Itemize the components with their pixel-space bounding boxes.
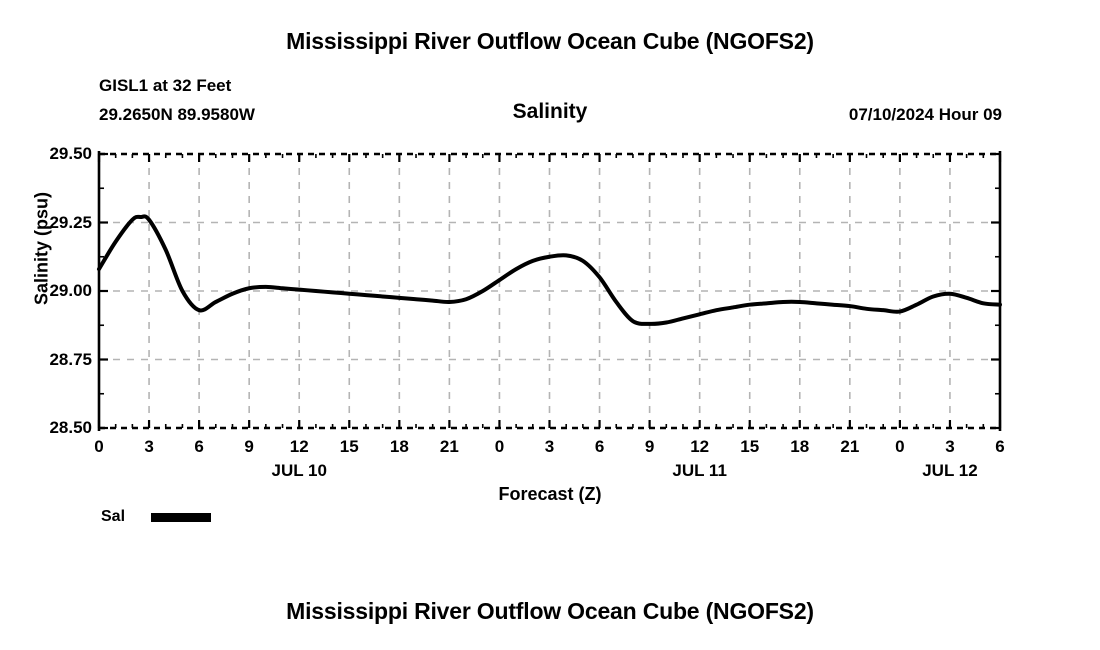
chart-svg <box>0 0 1100 650</box>
footer-title: Mississippi River Outflow Ocean Cube (NG… <box>0 598 1100 625</box>
legend-label: Sal <box>101 508 125 526</box>
x-tick-label: 3 <box>945 437 954 457</box>
x-axis-label: Forecast (Z) <box>0 484 1100 505</box>
x-tick-label: 18 <box>790 437 809 457</box>
x-tick-label: 21 <box>440 437 459 457</box>
plot-area: 28.5028.7529.0029.2529.50 Salinity (psu)… <box>0 0 1100 650</box>
x-tick-label: 3 <box>144 437 153 457</box>
chart-page: Mississippi River Outflow Ocean Cube (NG… <box>0 0 1100 650</box>
x-tick-label: 15 <box>740 437 759 457</box>
x-axis-day-label: JUL 11 <box>672 461 727 481</box>
x-tick-label: 18 <box>390 437 409 457</box>
legend: Sal <box>101 508 211 526</box>
x-tick-label: 6 <box>995 437 1004 457</box>
x-tick-label: 6 <box>194 437 203 457</box>
x-axis-day-label: JUL 12 <box>922 461 977 481</box>
x-tick-label: 9 <box>645 437 654 457</box>
x-tick-label: 12 <box>690 437 709 457</box>
x-tick-label: 0 <box>895 437 904 457</box>
x-tick-label: 0 <box>94 437 103 457</box>
x-tick-label: 21 <box>840 437 859 457</box>
x-tick-label: 3 <box>545 437 554 457</box>
y-axis-label: Salinity (psu) <box>32 169 53 329</box>
x-tick-label: 12 <box>290 437 309 457</box>
x-tick-label: 15 <box>340 437 359 457</box>
x-axis-day-label: JUL 10 <box>271 461 326 481</box>
x-tick-label: 0 <box>495 437 504 457</box>
y-tick-label: 28.75 <box>26 351 92 368</box>
x-tick-label: 9 <box>244 437 253 457</box>
x-tick-label: 6 <box>595 437 604 457</box>
y-tick-label: 29.50 <box>26 145 92 162</box>
legend-line-swatch <box>151 513 211 522</box>
y-tick-label: 28.50 <box>26 419 92 436</box>
